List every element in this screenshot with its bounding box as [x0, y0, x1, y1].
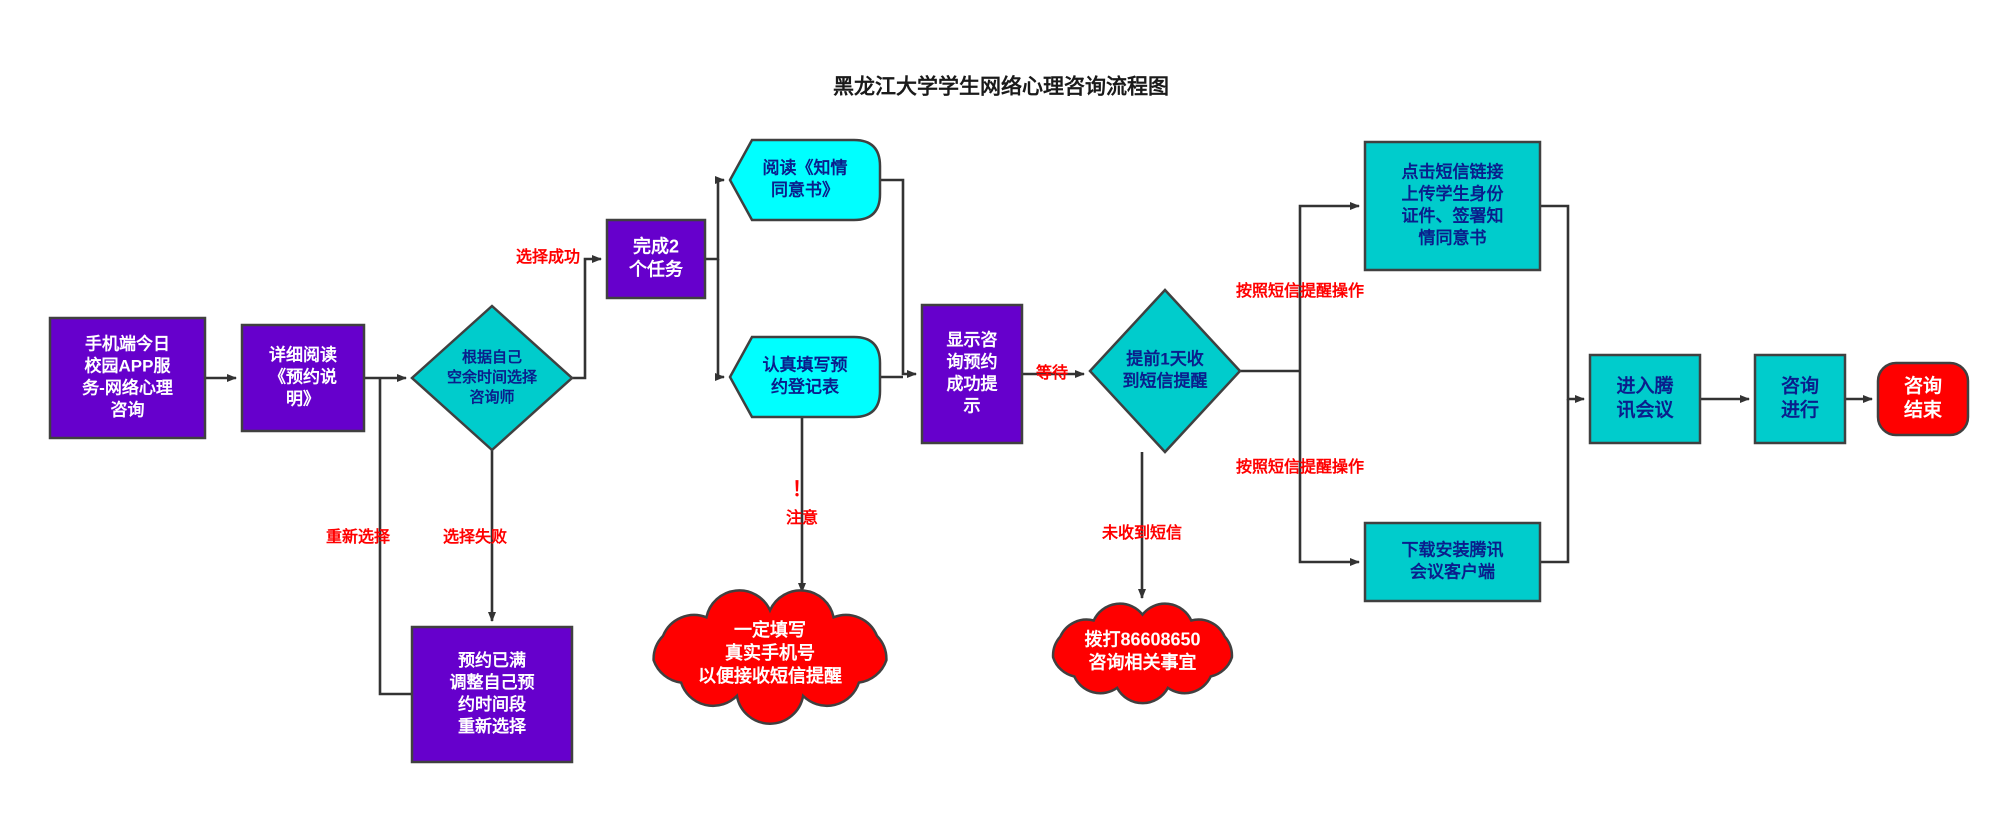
counseling-finished-label-line: 咨询: [1904, 374, 1942, 397]
booking-success-message-label-line: 示: [964, 396, 981, 415]
mobile-app-entry-label-line: 校园APP服: [85, 355, 172, 375]
node-read-informed-consent[interactable]: 阅读《知情同意书》: [730, 140, 880, 220]
counseling-finished-label-line: 结束: [1904, 398, 1943, 421]
node-read-booking-instructions[interactable]: 详细阅读《预约说明》: [242, 325, 364, 431]
node-download-tencent-meeting[interactable]: 下载安装腾讯会议客户端: [1365, 523, 1540, 601]
edge-consent-to-success: [880, 180, 916, 374]
use-real-phone-number-note-label-line: 以便接收短信提醒: [698, 665, 842, 686]
node-fill-booking-form[interactable]: 认真填写预约登记表: [730, 337, 880, 417]
read-booking-instructions-label-line: 《预约说: [269, 366, 337, 386]
page-title: 黑龙江大学学生网络心理咨询流程图: [833, 75, 1169, 99]
fully-booked-reschedule-label-line: 调整自己预: [450, 672, 535, 692]
complete-two-tasks-label-line: 完成2: [633, 235, 679, 256]
call-hotline-note-label-line: 咨询相关事宜: [1089, 651, 1197, 672]
edge-tasks-to-consent: [705, 180, 724, 259]
booking-success-message-label-line: 询预约: [947, 351, 998, 371]
node-counseling-in-progress[interactable]: 咨询进行: [1755, 355, 1845, 443]
call-hotline-note-label-line: 拨打86608650: [1084, 628, 1200, 649]
flowchart-svg: 黑龙江大学学生网络心理咨询流程图: [0, 0, 2002, 838]
choose-counselor-decision-label-line: 空余时间选择: [447, 368, 538, 386]
fully-booked-reschedule-label-line: 约时间段: [458, 694, 526, 714]
counseling-in-progress-shape: [1755, 355, 1845, 443]
label-select-failed: 选择失败: [443, 527, 507, 546]
complete-two-tasks-label-line: 个任务: [628, 258, 684, 279]
node-booking-success-message[interactable]: 显示咨询预约成功提示: [922, 305, 1022, 443]
node-use-real-phone-number-note[interactable]: 一定填写真实手机号以便接收短信提醒: [654, 590, 887, 723]
label-follow-sms-top: 按照短信提醒操作: [1236, 281, 1364, 300]
counseling-in-progress-label-line: 进行: [1781, 398, 1819, 421]
node-call-hotline-note[interactable]: 拨打86608650咨询相关事宜: [1053, 604, 1232, 703]
enter-tencent-meeting-shape: [1590, 355, 1700, 443]
fully-booked-reschedule-label-line: 重新选择: [458, 716, 527, 736]
label-no-sms: 未收到短信: [1101, 523, 1182, 542]
counseling-in-progress-label-line: 咨询: [1781, 374, 1819, 397]
click-sms-link-upload-id-label-line: 上传学生身份: [1402, 183, 1505, 203]
fill-booking-form-label-line: 认真填写预: [763, 354, 848, 374]
sms-reminder-decision-label-line: 提前1天收: [1126, 348, 1203, 368]
read-booking-instructions-label-line: 明》: [286, 388, 320, 408]
label-attention: 注意: [786, 508, 818, 527]
enter-tencent-meeting-label-line: 进入腾: [1616, 374, 1674, 397]
node-choose-counselor-decision[interactable]: 根据自己空余时间选择咨询师: [412, 306, 572, 450]
mobile-app-entry-label-line: 咨询: [111, 399, 145, 419]
edge-download-to-enter-meeting: [1540, 399, 1568, 562]
fill-booking-form-label-line: 约登记表: [771, 376, 840, 396]
booking-success-message-label-line: 显示咨: [947, 329, 998, 349]
label-follow-sms-bottom: 按照短信提醒操作: [1236, 457, 1364, 476]
fully-booked-reschedule-label-line: 预约已满: [458, 650, 526, 670]
node-fully-booked-reschedule[interactable]: 预约已满调整自己预约时间段重新选择: [412, 627, 572, 762]
edge-decision-to-tasks: [572, 259, 601, 378]
click-sms-link-upload-id-label-line: 情同意书: [1419, 227, 1487, 247]
click-sms-link-upload-id-label-line: 证件、签署知: [1402, 205, 1504, 225]
choose-counselor-decision-label-line: 根据自己: [462, 348, 522, 366]
download-tencent-meeting-label-line: 下载安装腾讯: [1402, 539, 1504, 559]
mobile-app-entry-label-line: 手机端今日: [85, 333, 170, 353]
read-booking-instructions-label-line: 详细阅读: [269, 344, 337, 364]
label-wait: 等待: [1035, 363, 1068, 382]
choose-counselor-decision-label-line: 咨询师: [469, 388, 514, 406]
counseling-finished-shape: [1878, 363, 1968, 435]
node-click-sms-link-upload-id[interactable]: 点击短信链接上传学生身份证件、签署知情同意书: [1365, 142, 1540, 270]
node-complete-two-tasks[interactable]: 完成2个任务: [607, 220, 705, 298]
label-exclamation: ！: [792, 478, 812, 500]
mobile-app-entry-label-line: 务-网络心理: [82, 377, 173, 397]
click-sms-link-upload-id-label-line: 点击短信链接: [1402, 161, 1504, 181]
label-select-success: 选择成功: [516, 247, 580, 266]
label-reselect: 重新选择: [326, 527, 391, 546]
edge-tasks-to-form: [718, 259, 724, 377]
node-mobile-app-entry[interactable]: 手机端今日校园APP服务-网络心理咨询: [50, 318, 205, 438]
edge-upload-to-enter-meeting: [1540, 206, 1584, 399]
node-sms-reminder-decision[interactable]: 提前1天收到短信提醒: [1090, 290, 1240, 452]
download-tencent-meeting-label-line: 会议客户端: [1410, 561, 1495, 581]
node-layer: 手机端今日校园APP服务-网络心理咨询详细阅读《预约说明》根据自己空余时间选择咨…: [50, 140, 1968, 762]
enter-tencent-meeting-label-line: 讯会议: [1616, 398, 1674, 421]
node-enter-tencent-meeting[interactable]: 进入腾讯会议: [1590, 355, 1700, 443]
use-real-phone-number-note-label-line: 一定填写: [734, 619, 806, 640]
sms-reminder-decision-label-line: 到短信提醒: [1123, 370, 1208, 390]
booking-success-message-label-line: 成功提: [947, 373, 999, 393]
use-real-phone-number-note-label-line: 真实手机号: [725, 642, 815, 663]
read-informed-consent-label-line: 阅读《知情: [763, 157, 848, 177]
flowchart-canvas: 黑龙江大学学生网络心理咨询流程图: [0, 0, 2002, 838]
node-counseling-finished[interactable]: 咨询结束: [1878, 363, 1968, 435]
read-informed-consent-label-line: 同意书》: [771, 179, 839, 199]
